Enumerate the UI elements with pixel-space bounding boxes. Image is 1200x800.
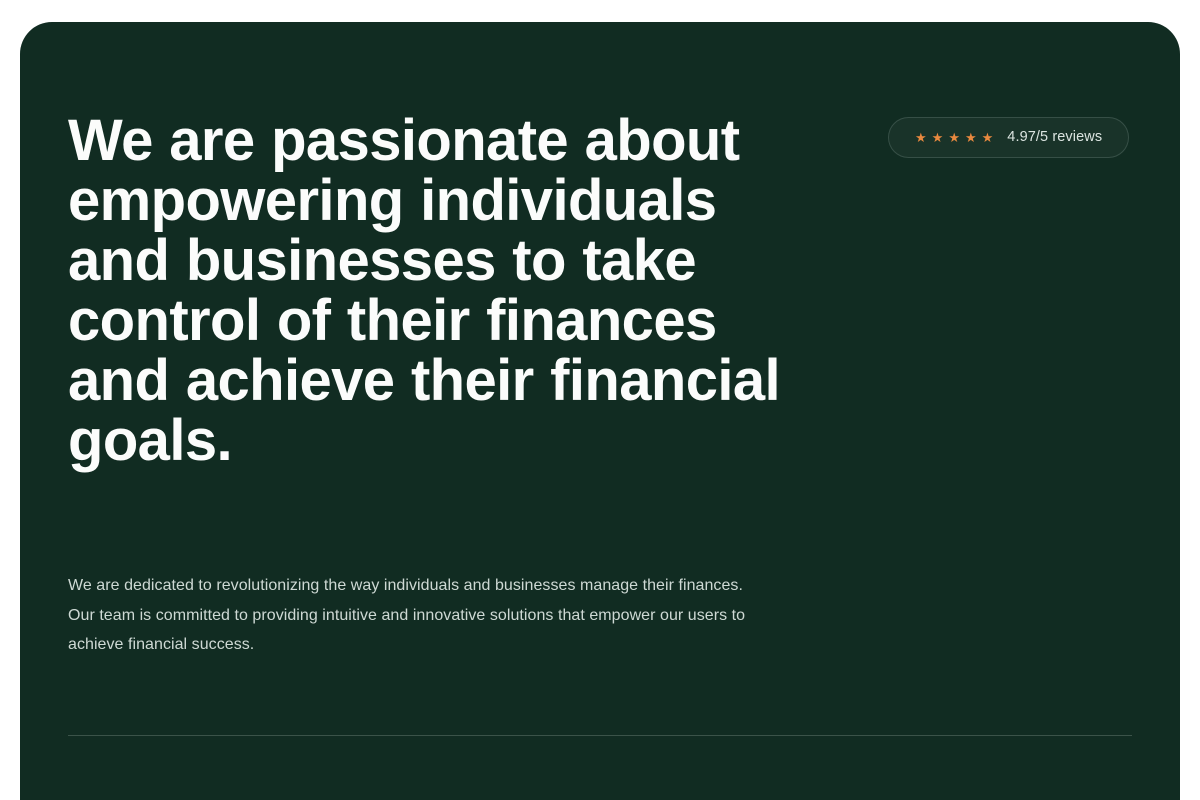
section-divider — [68, 735, 1132, 736]
star-icon: ★ — [915, 131, 927, 144]
star-icon: ★ — [932, 131, 944, 144]
page-title: We are passionate about empowering indiv… — [68, 111, 798, 471]
hero-card: ★ ★ ★ ★ ★ 4.97/5 reviews We are passiona… — [20, 22, 1180, 800]
star-icon: ★ — [965, 131, 977, 144]
hero-card-inner: ★ ★ ★ ★ ★ 4.97/5 reviews We are passiona… — [20, 22, 1180, 800]
star-icon: ★ — [982, 131, 994, 144]
page-root: ★ ★ ★ ★ ★ 4.97/5 reviews We are passiona… — [0, 0, 1200, 800]
star-rating: ★ ★ ★ ★ ★ — [915, 131, 993, 144]
hero-description: We are dedicated to revolutionizing the … — [68, 571, 746, 660]
rating-label: 4.97/5 reviews — [1007, 130, 1102, 145]
star-icon: ★ — [948, 131, 960, 144]
rating-badge[interactable]: ★ ★ ★ ★ ★ 4.97/5 reviews — [888, 117, 1129, 158]
